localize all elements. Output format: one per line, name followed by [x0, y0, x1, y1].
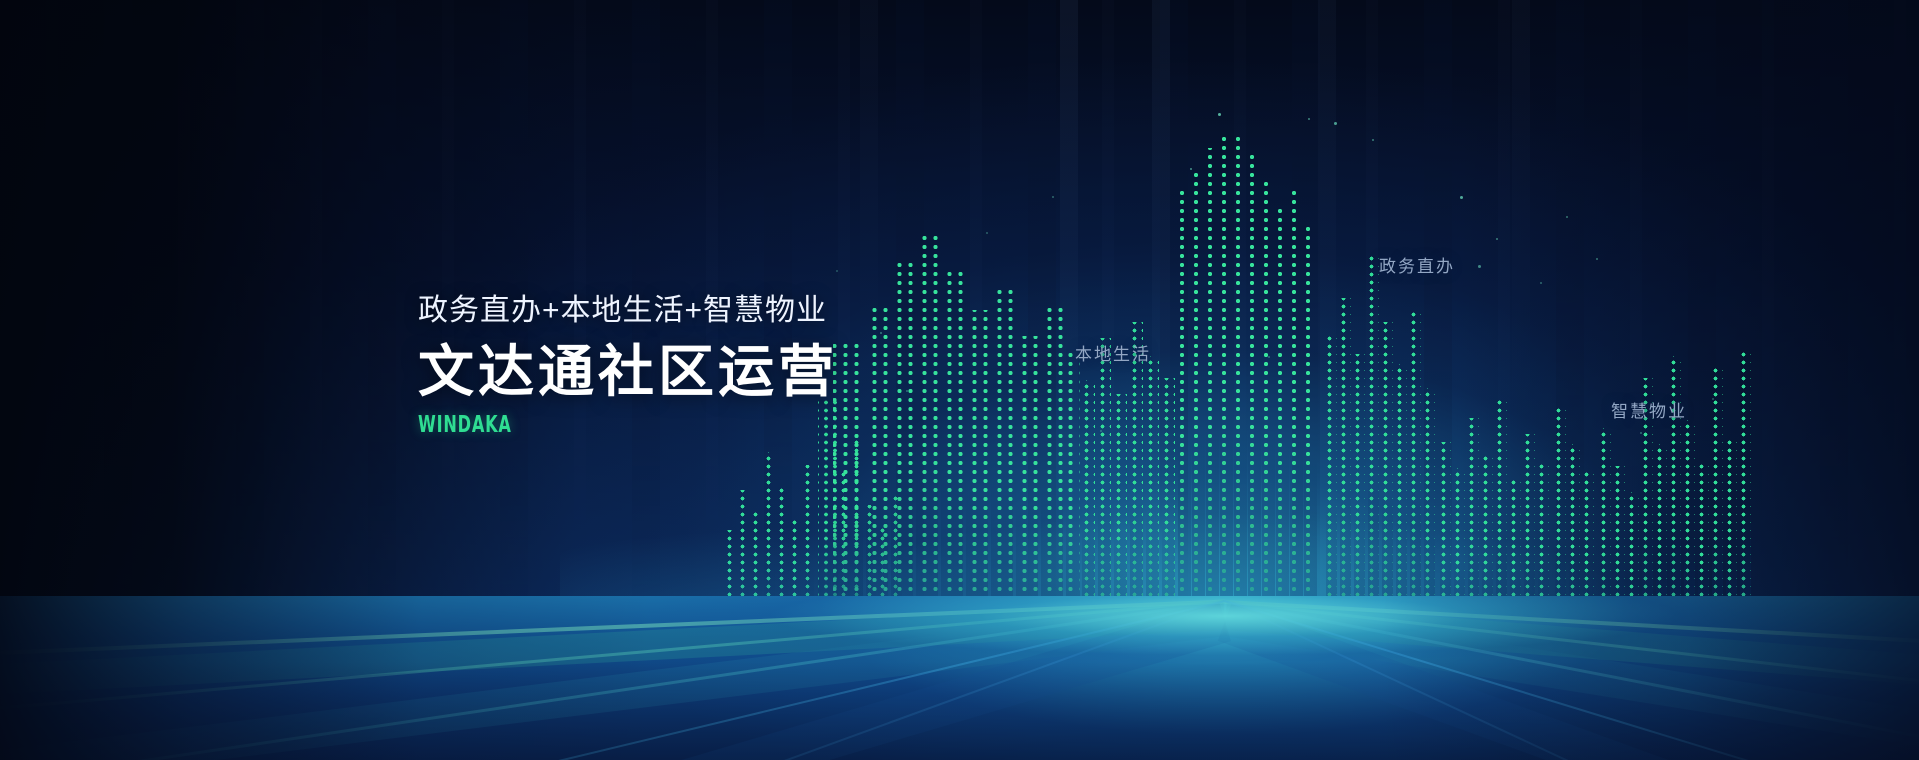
- ground-vignette: [0, 596, 1919, 760]
- brand-wordmark: WINDAKA: [418, 414, 824, 437]
- skyline-bar: [1192, 170, 1205, 640]
- sparkle-particle: [986, 232, 988, 234]
- sparkle-particle: [1640, 432, 1642, 434]
- sparkle-particle: [1460, 196, 1463, 199]
- skyline-bar: [1098, 338, 1111, 640]
- skyline-bar: [966, 310, 988, 640]
- sparkle-particle: [1268, 356, 1270, 358]
- headline-block: 政务直办+本地生活+智慧物业 文达通社区运营 WINDAKA: [418, 296, 938, 437]
- sparkle-particle: [1478, 265, 1481, 268]
- sparkle-particle: [1308, 118, 1310, 120]
- skyline-bar: [1041, 304, 1063, 640]
- sparkle-particle: [1566, 216, 1568, 218]
- dot-matrix-skyline: [0, 0, 1919, 640]
- sparkle-particle: [1372, 139, 1374, 141]
- skyline-bar: [1130, 322, 1143, 640]
- skyline-bar: [1206, 148, 1219, 640]
- sparkle-particle: [1334, 122, 1337, 125]
- hero-banner: 本地生活政务直办智慧物业 政务直办+本地生活+智慧物业 文达通社区运营 WIND…: [0, 0, 1919, 760]
- skyline-bar: [1016, 336, 1038, 640]
- skyline-bar: [1262, 178, 1275, 640]
- sparkle-particle: [1712, 398, 1714, 400]
- skyline-bar: [1290, 190, 1303, 640]
- sparkle-particle: [1540, 282, 1542, 284]
- city-label-0: 本地生活: [1075, 340, 1151, 365]
- skyline-bar: [1220, 132, 1233, 640]
- banner-subtitle: 政务直办+本地生活+智慧物业: [418, 296, 938, 326]
- sparkle-particle: [1496, 238, 1498, 240]
- skyline-bar: [1410, 310, 1421, 640]
- skyline-bar: [1234, 134, 1247, 640]
- skyline-bar: [1368, 254, 1379, 640]
- skyline-bar: [1340, 298, 1351, 640]
- city-label-1: 政务直办: [1379, 252, 1455, 277]
- city-label-2: 智慧物业: [1611, 397, 1687, 422]
- skyline-bar: [1326, 336, 1337, 640]
- banner-title: 文达通社区运营: [418, 344, 938, 400]
- sparkle-particle: [1052, 196, 1054, 198]
- skyline-bar: [941, 268, 963, 640]
- skyline-bar: [1382, 322, 1393, 640]
- sparkle-particle: [836, 270, 838, 272]
- skyline-bar: [1248, 154, 1261, 640]
- skyline-bar: [991, 286, 1013, 640]
- sparkle-particle: [1100, 430, 1102, 432]
- sparkle-particle: [1190, 168, 1192, 170]
- sparkle-particle: [1596, 258, 1598, 260]
- perspective-ground: [0, 596, 1919, 760]
- skyline-bar: [1304, 222, 1317, 640]
- sparkle-particle: [1218, 113, 1221, 116]
- skyline-bar: [1178, 188, 1191, 640]
- skyline-bar: [1276, 204, 1289, 640]
